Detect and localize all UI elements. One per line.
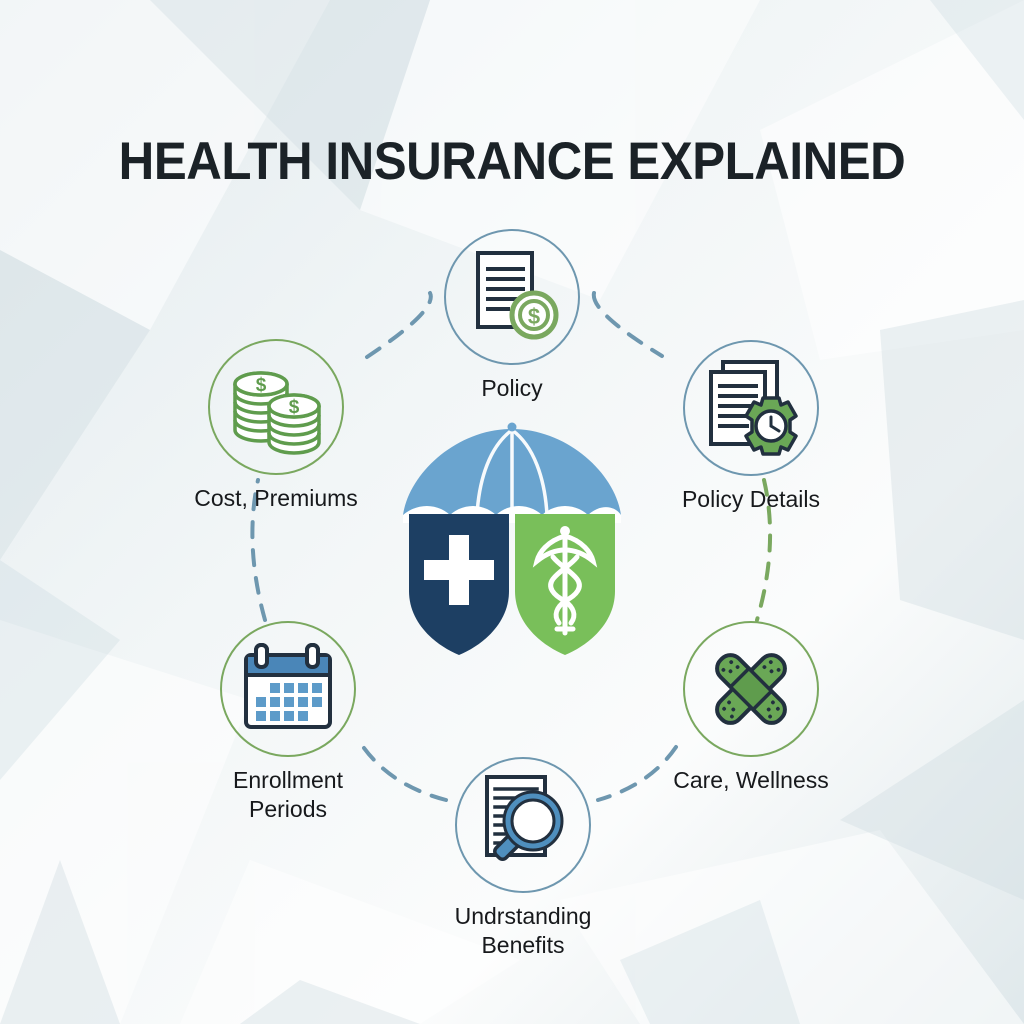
node-policy[interactable]: $ Policy: [402, 229, 622, 403]
documents-gear-clock-icon: [697, 354, 805, 462]
node-care-wellness-label: Care, Wellness: [641, 766, 861, 795]
coin-stacks-icon: $ $: [223, 354, 329, 460]
node-understanding-benefits[interactable]: Undrstanding Benefits: [413, 757, 633, 960]
node-policy-ring: $: [444, 229, 580, 365]
shield-left-navy: [409, 514, 509, 655]
node-cost-premiums[interactable]: $ $ Cost, Premiums: [166, 339, 386, 513]
infographic-canvas: HEALTH INSURANCE EXPLAINED: [0, 0, 1024, 1024]
node-understanding-benefits-label: Undrstanding Benefits: [413, 902, 633, 960]
node-cost-premiums-ring: $ $: [208, 339, 344, 475]
crossed-bandages-icon: [697, 635, 805, 743]
node-enrollment-periods-ring: [220, 621, 356, 757]
node-enrollment-periods[interactable]: Enrollment Periods: [178, 621, 398, 824]
node-policy-details[interactable]: Policy Details: [641, 340, 861, 514]
node-policy-details-ring: [683, 340, 819, 476]
calendar-icon: [234, 635, 342, 743]
document-magnifier-icon: [469, 771, 577, 879]
node-cost-premiums-label: Cost, Premiums: [166, 484, 386, 513]
svg-text:$: $: [528, 304, 540, 329]
node-care-wellness[interactable]: Care, Wellness: [641, 621, 861, 795]
svg-text:$: $: [256, 375, 267, 396]
node-enrollment-periods-label: Enrollment Periods: [178, 766, 398, 824]
svg-text:$: $: [289, 397, 300, 418]
node-understanding-benefits-ring: [455, 757, 591, 893]
shield-right-green: [515, 514, 615, 655]
node-policy-details-label: Policy Details: [641, 485, 861, 514]
document-dollar-coin-icon: $: [460, 245, 564, 349]
umbrella-shield-emblem: [387, 411, 637, 661]
umbrella-icon: [403, 423, 621, 524]
node-policy-label: Policy: [402, 374, 622, 403]
page-title: HEALTH INSURANCE EXPLAINED: [36, 133, 988, 191]
node-care-wellness-ring: [683, 621, 819, 757]
